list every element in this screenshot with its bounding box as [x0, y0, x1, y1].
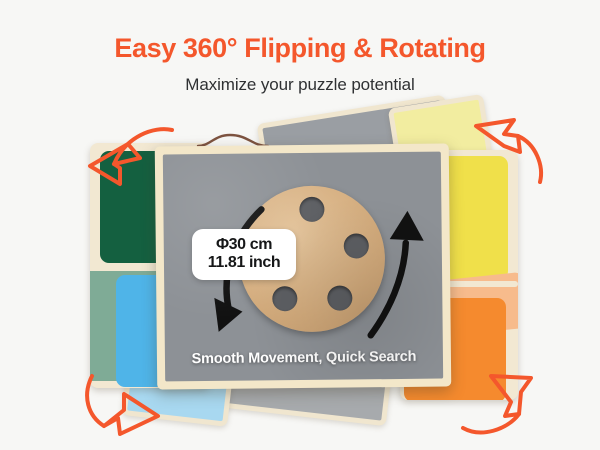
badge-imperial: 11.81 inch	[196, 254, 292, 272]
badge-metric: Φ30 cm	[196, 236, 292, 254]
page-title: Easy 360° Flipping & Rotating	[0, 33, 600, 64]
promo-banner: Easy 360° Flipping & Rotating Maximize y…	[0, 0, 600, 450]
product-caption: Smooth Movement, Quick Search	[165, 349, 443, 368]
page-subtitle: Maximize your puzzle potential	[0, 75, 600, 95]
product-photo: Smooth Movement, Quick Search Φ30 cm 11.…	[70, 105, 530, 435]
disc-hole-top	[299, 197, 324, 222]
size-badge: Φ30 cm 11.81 inch	[192, 229, 296, 280]
disc-hole-right	[344, 233, 369, 258]
disc-hole-bottom-right	[327, 285, 352, 310]
disc-hole-bottom-left	[272, 286, 297, 311]
